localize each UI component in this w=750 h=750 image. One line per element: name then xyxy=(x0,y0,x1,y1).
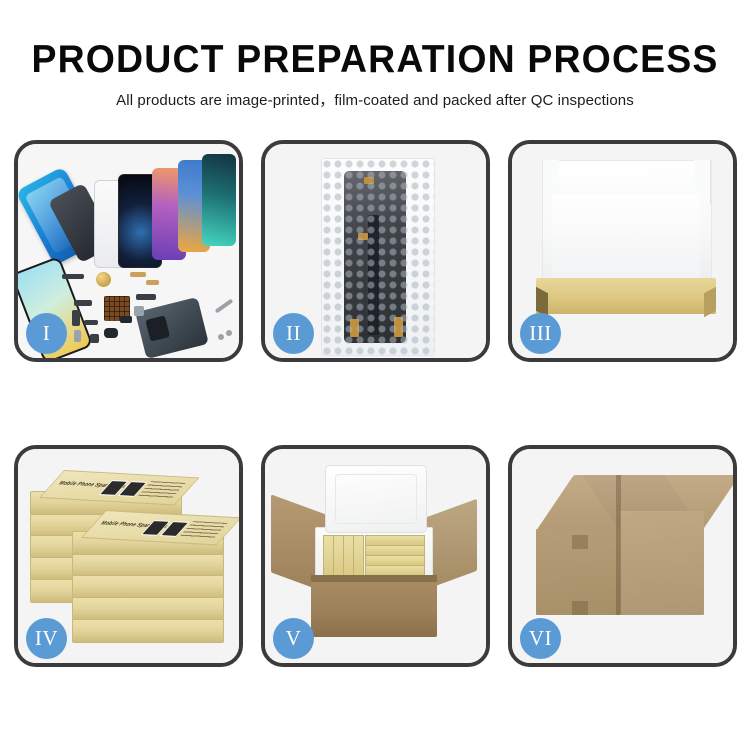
box-lid-label-rear: Mobile Phone Spare Parts xyxy=(39,470,200,505)
step-badge-3: III xyxy=(520,313,561,354)
step-badge-5: V xyxy=(273,618,314,659)
stacked-box-top-front: Mobile Phone Spare Parts xyxy=(72,531,224,555)
carton-vertical-seam xyxy=(616,475,621,615)
process-step-3[interactable]: III xyxy=(508,140,737,362)
spare-part xyxy=(62,274,84,279)
stacked-box xyxy=(72,553,224,577)
carton-tape-patch xyxy=(572,601,588,615)
spare-part xyxy=(74,330,81,342)
infographic-page: PRODUCT PREPARATION PROCESS All products… xyxy=(0,0,750,750)
carton-tape-patch xyxy=(572,535,588,549)
copper-coil-part xyxy=(96,272,111,287)
box-lid-label-front: Mobile Phone Spare Parts xyxy=(81,510,242,545)
screwdriver-tool xyxy=(215,299,234,314)
process-step-6[interactable]: VI xyxy=(508,445,737,667)
stacked-box xyxy=(72,597,224,621)
screw-part xyxy=(226,330,232,336)
foam-box-lid xyxy=(325,465,427,533)
bubble-texture xyxy=(322,159,434,355)
spare-part xyxy=(134,306,144,316)
carton-front-wall xyxy=(311,575,437,637)
stacked-box xyxy=(72,575,224,599)
kraft-box-front xyxy=(536,278,716,314)
screw-part xyxy=(218,334,224,340)
spare-part xyxy=(130,272,146,277)
step-badge-2: II xyxy=(273,313,314,354)
stacked-box xyxy=(72,619,224,643)
phone-teal-display xyxy=(202,154,236,246)
spare-part xyxy=(74,300,92,306)
process-step-5[interactable]: V xyxy=(261,445,490,667)
spare-part xyxy=(104,328,118,338)
spare-part xyxy=(136,294,156,300)
phone-rear-housing xyxy=(135,297,209,359)
foam-sheet xyxy=(552,194,700,278)
carton-right-face xyxy=(620,511,704,615)
spare-part xyxy=(146,280,159,285)
spare-part xyxy=(84,320,98,325)
spare-part xyxy=(90,334,99,343)
page-title: PRODUCT PREPARATION PROCESS xyxy=(15,38,735,82)
bubble-wrap-bag xyxy=(321,158,435,356)
process-step-2[interactable]: II xyxy=(261,140,490,362)
step-badge-4: IV xyxy=(26,618,67,659)
spare-part xyxy=(72,310,80,326)
spare-part xyxy=(120,316,132,323)
step-badge-1: I xyxy=(26,313,67,354)
process-step-1[interactable]: I xyxy=(14,140,243,362)
page-subtitle: All products are image-printed，film-coat… xyxy=(0,89,750,110)
process-grid: I II xyxy=(14,140,736,667)
process-step-4[interactable]: Mobile Phone Spare Parts xyxy=(14,445,243,667)
step-badge-6: VI xyxy=(520,618,561,659)
header: PRODUCT PREPARATION PROCESS All products… xyxy=(0,38,750,110)
